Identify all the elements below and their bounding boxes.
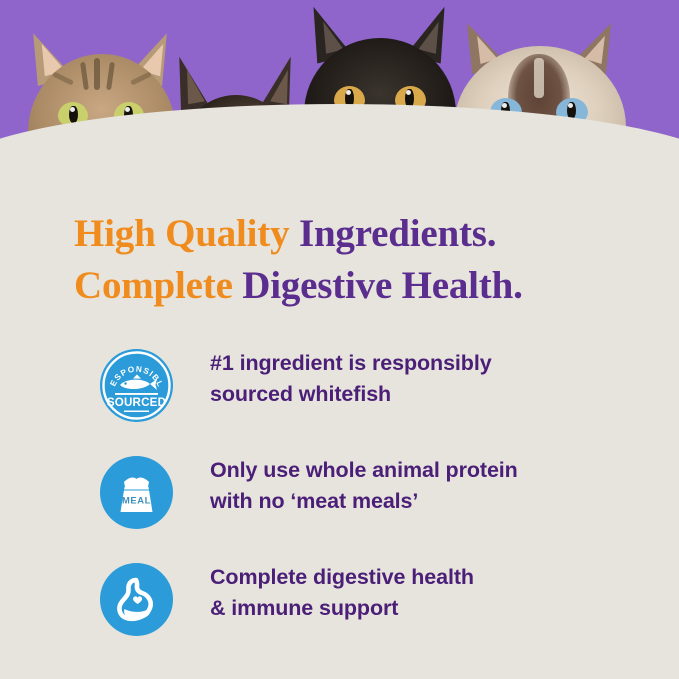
feature-text-line-2: & immune support (210, 593, 630, 624)
feature-text-line-1: Complete digestive health (210, 562, 630, 593)
feature-text: Complete digestive health & immune suppo… (210, 562, 630, 623)
headline-line-2: Complete Digestive Health. (74, 260, 634, 312)
feature-text: #1 ingredient is responsibly sourced whi… (210, 348, 630, 409)
feature-text-line-1: Only use whole animal protein (210, 455, 630, 486)
feature-text-line-1: #1 ingredient is responsibly (210, 348, 630, 379)
responsibly-sourced-fish-badge-icon: RESPONSIBLY SOURCED (100, 349, 173, 422)
page-title: High Quality Ingredients. Complete Diges… (74, 208, 634, 313)
headline-complete: Complete (74, 264, 233, 307)
svg-text:SOURCED: SOURCED (107, 396, 166, 409)
list-item: Complete digestive health & immune suppo… (0, 554, 679, 661)
headline-digestive-health: Digestive Health. (242, 264, 522, 307)
headline-line-1: High Quality Ingredients. (74, 208, 634, 260)
list-item: RESPONSIBLY SOURCED #1 ingredient is res… (0, 340, 679, 447)
cat-photo-banner (0, 0, 679, 200)
hero-curve-divider (0, 104, 679, 200)
headline-ingredients: Ingredients. (299, 212, 496, 255)
headline-high-quality: High Quality (74, 212, 289, 255)
stomach-heart-badge-icon (100, 563, 173, 636)
feature-text-line-2: with no ‘meat meals’ (210, 486, 630, 517)
meal-sack-badge-icon: MEAL (100, 456, 173, 529)
svg-text:MEAL: MEAL (122, 495, 151, 506)
feature-text: Only use whole animal protein with no ‘m… (210, 455, 630, 516)
product-benefits-infographic: High Quality Ingredients. Complete Diges… (0, 0, 679, 679)
feature-text-line-2: sourced whitefish (210, 379, 630, 410)
list-item: MEAL Only use whole animal protein with … (0, 447, 679, 554)
feature-list: RESPONSIBLY SOURCED #1 ingredient is res… (0, 340, 679, 661)
